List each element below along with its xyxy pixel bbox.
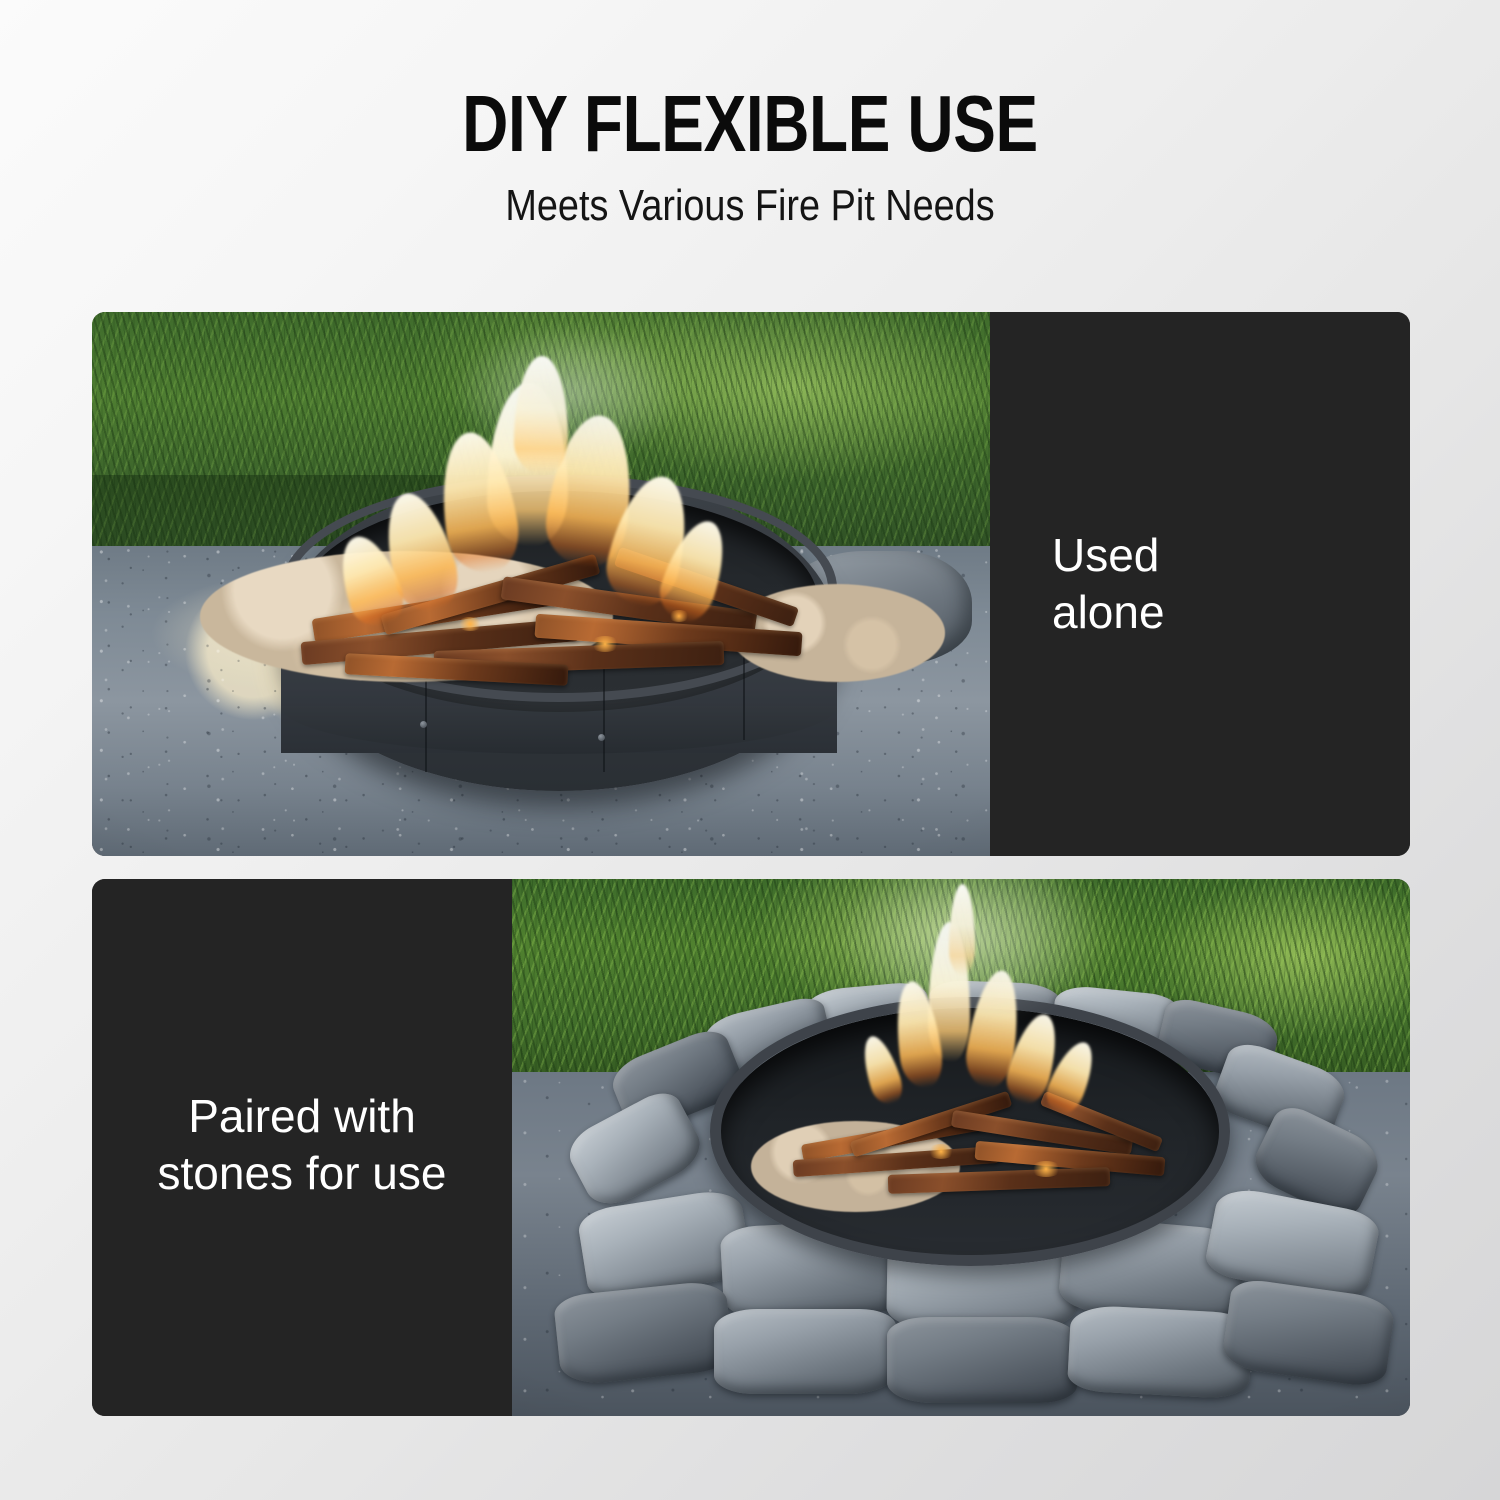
page-subtitle: Meets Various Fire Pit Needs (105, 164, 1395, 229)
header-block: DIY FLEXIBLE USE Meets Various Fire Pit … (0, 0, 1500, 229)
stone-block (714, 1309, 896, 1395)
burning-log-stack (793, 1099, 1189, 1223)
stone-block (887, 1317, 1077, 1403)
feature-panel-paired-with-stones: Paired with stones for use (92, 879, 1410, 1416)
ember (457, 617, 483, 631)
feature-panel-used-alone: Used alone (92, 312, 1410, 856)
ember (1030, 1161, 1062, 1177)
caption-text: Paired with stones for use (158, 1088, 447, 1202)
stone-block (553, 1280, 735, 1387)
caption-text: Used alone (990, 527, 1165, 641)
smoke (451, 323, 684, 464)
scene-stone-surround (512, 879, 1410, 1416)
steel-fire-ring (710, 997, 1231, 1266)
ring-bolt (420, 721, 427, 728)
log (888, 1167, 1110, 1193)
caption-panel-paired-with-stones: Paired with stones for use (92, 879, 512, 1416)
page-title: DIY FLEXIBLE USE (150, 0, 1350, 164)
photo-fire-ring-with-stones (512, 879, 1410, 1416)
ring-bolt (598, 734, 605, 741)
ember (927, 1144, 955, 1159)
scene-gravel (92, 312, 990, 856)
product-feature-poster: DIY FLEXIBLE USE Meets Various Fire Pit … (0, 0, 1500, 1500)
caption-panel-used-alone: Used alone (990, 312, 1410, 856)
photo-fire-ring-on-gravel (92, 312, 990, 856)
